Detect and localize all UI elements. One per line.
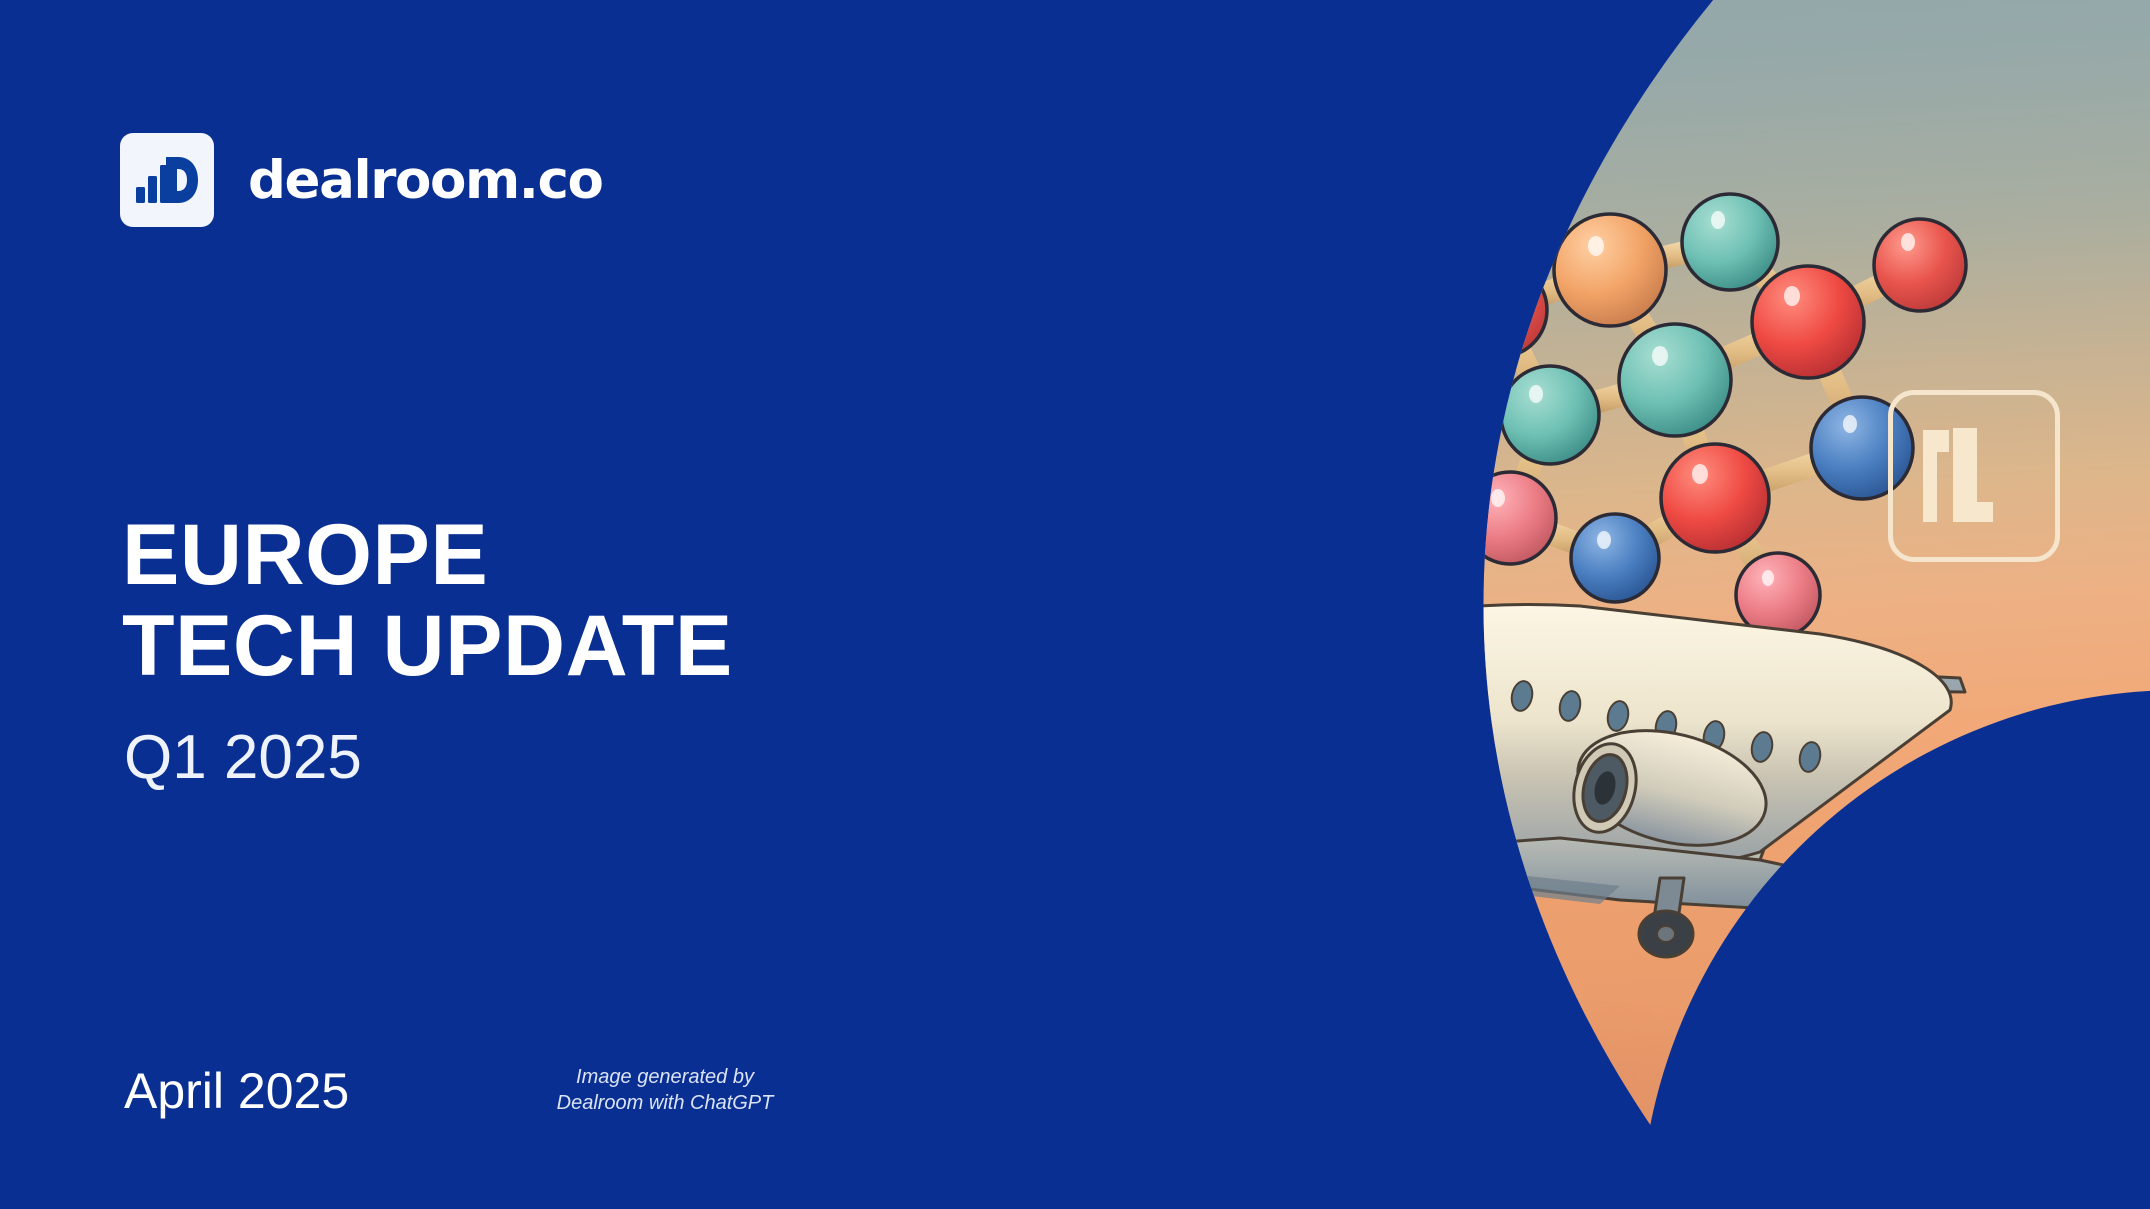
brand-logo[interactable]: dealroom.co <box>120 133 603 227</box>
slide-root: dealroom.co EUROPE TECH UPDATE Q1 2025 A… <box>0 0 2150 1209</box>
page-title: EUROPE TECH UPDATE <box>122 510 733 692</box>
publication-date: April 2025 <box>124 1062 349 1120</box>
bird-badge <box>1055 884 1243 1072</box>
image-credit: Image generated by Dealroom with ChatGPT <box>540 1064 790 1117</box>
bird-swoosh-icon <box>1084 938 1214 1018</box>
page-title-line-1: EUROPE <box>122 507 488 603</box>
glyph-badge <box>1888 390 2060 562</box>
cloud-band <box>1020 540 1360 600</box>
abstract-glyph-icon <box>1919 420 2029 532</box>
bar-chart-d-icon <box>120 133 214 227</box>
image-credit-line-2: Dealroom with ChatGPT <box>540 1090 790 1116</box>
brand-logo-text: dealroom.co <box>248 150 603 211</box>
page-subtitle: Q1 2025 <box>124 722 362 793</box>
page-title-line-2: TECH UPDATE <box>122 601 733 692</box>
image-credit-line-1: Image generated by <box>540 1064 790 1090</box>
